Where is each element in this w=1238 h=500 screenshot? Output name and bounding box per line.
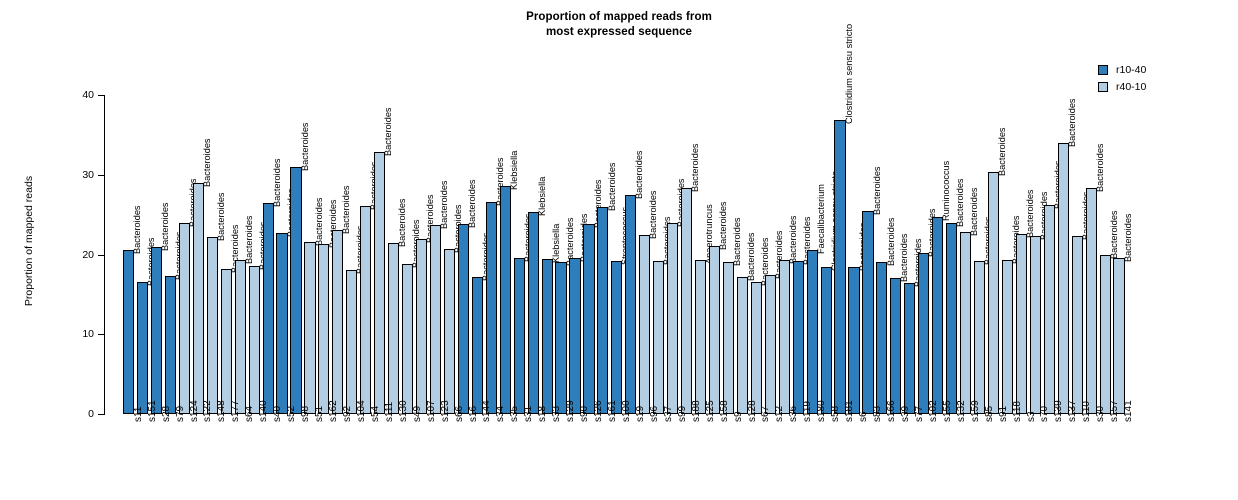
- bar-annotation: Bacteroides: [1095, 144, 1105, 193]
- bar: [221, 269, 232, 414]
- bar: [862, 211, 873, 414]
- bar-annotation: Bacteroides: [746, 232, 756, 281]
- bar: [932, 217, 943, 414]
- bar: [639, 235, 650, 414]
- bar: [1016, 234, 1027, 414]
- x-axis-tick-label: s83: [872, 406, 883, 422]
- x-axis-tick-label: s100: [621, 400, 632, 422]
- bar: [653, 261, 664, 414]
- x-axis-tick-label: s155: [942, 400, 953, 422]
- bar-annotation: Bacteroides: [690, 143, 700, 192]
- bar: [723, 262, 734, 414]
- bar: [667, 223, 678, 414]
- bar: [974, 261, 985, 414]
- bar: [779, 260, 790, 414]
- x-axis-tick-label: s130: [398, 400, 409, 422]
- bar-annotation: Bacteroides: [955, 179, 965, 228]
- bar: [416, 239, 427, 414]
- x-axis-tick-label: s66: [454, 406, 465, 422]
- bar-annotation: Bacteroides: [272, 159, 282, 208]
- plot-area: 010203040 Proportion of mapped reads Bac…: [0, 0, 1238, 500]
- x-axis-tick-label: s36: [788, 406, 799, 422]
- bar: [472, 277, 483, 414]
- bar: [904, 283, 915, 414]
- bar: [151, 247, 162, 414]
- bar-annotation: Bacteroides: [202, 138, 212, 187]
- x-axis-tick-label: s107: [426, 400, 437, 422]
- x-axis-tick-label: s137: [1067, 400, 1078, 422]
- x-axis-tick-label: s19: [635, 406, 646, 422]
- bar-annotation: Bacteroides: [314, 197, 324, 246]
- bar-annotation: Bacteroides: [1025, 189, 1035, 238]
- x-axis-tick-label: s85: [984, 406, 995, 422]
- bar: [458, 224, 469, 414]
- bar: [444, 249, 455, 414]
- chart-root: Proportion of mapped reads from most exp…: [0, 0, 1238, 500]
- x-axis-tick-label: s6: [858, 411, 869, 422]
- bar: [597, 207, 608, 414]
- bar-annotation: Bacteroides: [788, 216, 798, 265]
- bar-annotation: Bacteroides: [439, 180, 449, 229]
- bar-annotation: Bacteroides: [872, 167, 882, 216]
- bar: [1044, 205, 1055, 414]
- x-axis-tick-label: s159: [970, 400, 981, 422]
- bar: [263, 203, 274, 414]
- x-axis-tick-label: s96: [649, 406, 660, 422]
- bar-annotation: Bacteroides: [886, 217, 896, 266]
- bar: [500, 186, 511, 414]
- bar: [290, 167, 301, 414]
- bar: [1072, 236, 1083, 414]
- x-axis-tick-label: s64: [244, 406, 255, 422]
- x-axis-tick-label: s148: [216, 400, 227, 422]
- x-axis-tick-label: s157: [1109, 400, 1120, 422]
- bar: [318, 244, 329, 414]
- bar-annotation: Bacteroides: [718, 201, 728, 250]
- x-axis-tick-label: s111: [384, 402, 395, 422]
- x-axis-tick-label: s37: [663, 406, 674, 422]
- bar-annotation: Bacteroides: [732, 218, 742, 267]
- x-axis-tick-label: s166: [886, 400, 897, 422]
- x-axis-tick-label: s58: [830, 406, 841, 422]
- x-axis-tick-label: s140: [258, 400, 269, 422]
- bar: [179, 223, 190, 414]
- x-axis-tick-label: s126: [593, 400, 604, 422]
- bar-annotation: Klebsiella: [551, 224, 561, 263]
- x-axis-tick-label: s98: [300, 406, 311, 422]
- bar: [848, 267, 859, 414]
- x-axis-tick-label: s102: [928, 400, 939, 422]
- x-axis-tick-label: s54: [370, 406, 381, 422]
- bar: [193, 183, 204, 414]
- bar: [276, 233, 287, 414]
- x-axis-tick-label: s77: [914, 406, 925, 422]
- bar: [346, 270, 357, 414]
- bar: [137, 282, 148, 414]
- bar-annotation: Klebsiella: [509, 151, 519, 190]
- x-axis-tick-label: s28: [161, 406, 172, 422]
- x-axis-tick-label: s31: [523, 406, 534, 422]
- x-axis-tick-label: s151: [147, 400, 158, 422]
- bar-annotation: Bacteroides: [160, 202, 170, 251]
- x-axis-tick-label: s141: [1123, 400, 1134, 422]
- x-axis-tick-label: s11: [133, 407, 144, 422]
- bar-series: BacteroidesBacteroidesBacteroidesBactero…: [0, 0, 1238, 500]
- bar-annotation: Bacteroides: [216, 192, 226, 241]
- x-axis-tick-label: s34: [495, 406, 506, 422]
- x-axis-tick-label: s3: [1026, 411, 1037, 422]
- bar: [765, 275, 776, 414]
- bar: [528, 212, 539, 414]
- bar-annotation: Bacteroides: [969, 188, 979, 237]
- bar: [514, 258, 525, 414]
- x-axis-tick-label: s122: [202, 400, 213, 422]
- x-axis-tick-label: s110: [1081, 401, 1092, 422]
- x-axis-tick-label: s177: [230, 400, 241, 422]
- x-axis-tick-label: s52: [286, 406, 297, 422]
- x-axis-tick-label: s139: [1053, 400, 1064, 422]
- bar: [821, 267, 832, 414]
- bar-annotation: Klebsiella: [537, 177, 547, 216]
- x-axis-tick-label: s92: [342, 406, 353, 422]
- x-axis-tick-label: s181: [844, 400, 855, 422]
- x-axis-tick-label: s18: [537, 406, 548, 422]
- x-axis-tick-label: s39: [900, 406, 911, 422]
- x-axis-tick-label: s67: [760, 406, 771, 422]
- bar-annotation: Bacteroides: [648, 191, 658, 240]
- bar: [1058, 143, 1069, 414]
- x-axis-tick-label: s161: [607, 400, 618, 422]
- bar: [737, 277, 748, 414]
- bar-annotation: Ruminococcus: [941, 161, 951, 221]
- bar-annotation: Bacteroides: [300, 122, 310, 171]
- x-axis-tick-label: s124: [189, 400, 200, 422]
- x-axis-tick-label: s51: [314, 406, 325, 422]
- bar-annotation: Bacteroides: [383, 108, 393, 157]
- x-axis-tick-label: s35: [509, 406, 520, 422]
- bar: [555, 262, 566, 414]
- bar: [793, 261, 804, 414]
- x-axis-tick-label: s162: [328, 400, 339, 422]
- bar: [1002, 260, 1013, 414]
- bar-annotation: Bacteroides: [634, 151, 644, 200]
- bar: [249, 266, 260, 414]
- bar-annotation: Bacteroides: [899, 234, 909, 283]
- x-axis-tick-label: s79: [175, 406, 186, 422]
- bar: [709, 246, 720, 414]
- bar: [165, 276, 176, 414]
- bar: [988, 172, 999, 414]
- x-axis-tick-label: s99: [677, 406, 688, 422]
- bar: [807, 250, 818, 414]
- bar: [946, 223, 957, 414]
- x-axis-tick-label: s144: [481, 400, 492, 422]
- bar-annotation: Clostridium sensu stricto: [844, 24, 854, 124]
- x-axis-tick-label: s49: [412, 406, 423, 422]
- bar-annotation: Bacteroides: [132, 205, 142, 254]
- bar: [360, 206, 371, 414]
- bar-annotation: Faecalibacterium: [816, 184, 826, 254]
- bar: [695, 260, 706, 414]
- x-axis-tick-label: s30: [1095, 406, 1106, 422]
- x-axis-tick-label: s9: [733, 411, 744, 422]
- bar: [834, 120, 845, 414]
- bar-annotation: Bacteroides: [397, 198, 407, 247]
- x-axis-tick-label: s180: [816, 400, 827, 422]
- bar: [681, 188, 692, 414]
- bar: [751, 282, 762, 414]
- x-axis-tick-label: s104: [356, 400, 367, 422]
- bar: [1100, 255, 1111, 415]
- bar: [402, 264, 413, 414]
- x-axis-tick-label: s129: [565, 400, 576, 422]
- bar: [332, 230, 343, 414]
- bar-annotation: Bacteroides: [1109, 210, 1119, 259]
- x-axis-tick-label: s132: [956, 400, 967, 422]
- bar: [918, 253, 929, 414]
- x-axis-tick-label: s118: [1012, 401, 1023, 422]
- bar: [890, 278, 901, 414]
- bar: [374, 152, 385, 414]
- bar: [1030, 236, 1041, 414]
- bar-annotation: Bacteroides: [244, 216, 254, 265]
- bar: [486, 202, 497, 414]
- x-axis-tick-label: s91: [998, 406, 1009, 422]
- bar: [1086, 188, 1097, 414]
- bar-annotation: Bacteroides: [1067, 98, 1077, 147]
- bar: [123, 250, 134, 414]
- bar-annotation: Bacteroides: [1123, 213, 1133, 262]
- x-axis-tick-label: s40: [272, 406, 283, 422]
- bar: [876, 262, 887, 414]
- bar: [583, 224, 594, 414]
- bar: [304, 242, 315, 414]
- x-axis-tick-label: s158: [719, 400, 730, 422]
- bar: [542, 259, 553, 414]
- bar-annotation: Bacteroides: [607, 163, 617, 212]
- bar: [625, 195, 636, 414]
- bar: [388, 243, 399, 414]
- x-axis-tick-label: s119: [802, 401, 813, 422]
- x-axis-tick-label: s90: [579, 406, 590, 422]
- x-axis-tick-label: s33: [551, 406, 562, 422]
- bar: [611, 261, 622, 414]
- x-axis-tick-label: s125: [705, 400, 716, 422]
- bar: [960, 232, 971, 414]
- x-axis-tick-label: s16: [468, 406, 479, 422]
- bar-annotation: Bacteroides: [467, 180, 477, 229]
- bar-annotation: Bacteroides: [997, 127, 1007, 176]
- x-axis-tick-label: s123: [440, 400, 451, 422]
- bar-annotation: Bacteroides: [341, 185, 351, 234]
- bar: [569, 258, 580, 414]
- x-axis-tick-label: s70: [1039, 406, 1050, 422]
- bar: [1113, 258, 1124, 414]
- bar: [235, 260, 246, 414]
- x-axis-tick-label: s128: [747, 400, 758, 422]
- bar: [207, 237, 218, 414]
- x-axis-tick-label: s12: [774, 406, 785, 422]
- bar: [430, 225, 441, 414]
- x-axis-tick-label: s188: [691, 400, 702, 422]
